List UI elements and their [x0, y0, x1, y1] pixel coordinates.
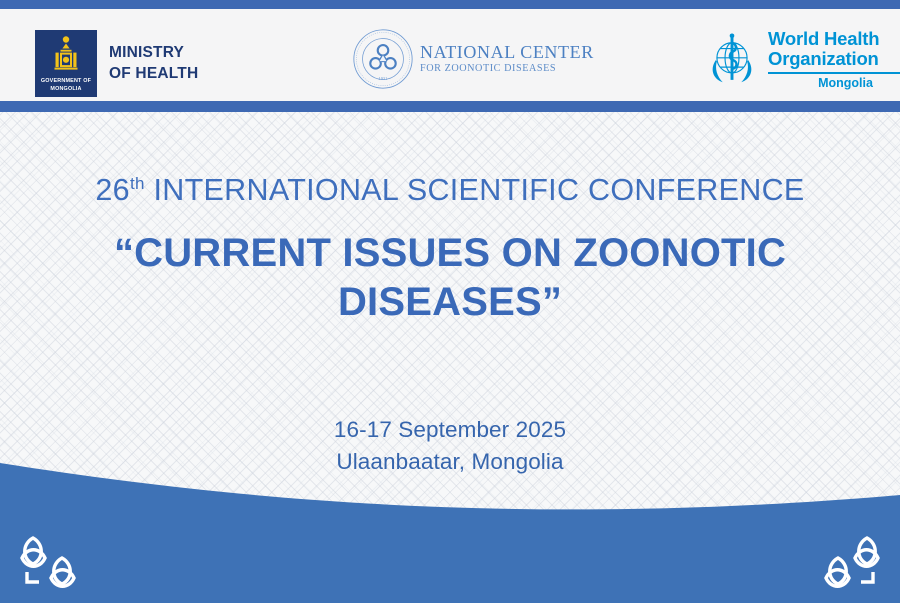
conference-ordinal-suffix: th	[130, 174, 145, 193]
national-center-name-line1: NATIONAL CENTER	[420, 43, 594, 61]
who-divider-rule	[768, 72, 900, 74]
top-accent-bar	[0, 0, 900, 9]
emblem-label-mongolia: MONGOLIA	[35, 87, 97, 92]
ministry-name-line2: OF HEALTH	[109, 64, 198, 84]
conference-heading-text: INTERNATIONAL SCIENTIFIC CONFERENCE	[145, 173, 805, 207]
national-center-name-line2: FOR ZOONOTIC DISEASES	[420, 64, 594, 74]
mongolian-knot-ornament-right	[811, 530, 887, 590]
who-name-line1: World Health	[768, 29, 900, 49]
conference-number: 26	[95, 173, 130, 207]
who-wordmark: World Health Organization Mongolia	[768, 29, 900, 90]
logo-header-band: GOVERNMENT OF MONGOLIA MINISTRY OF HEALT…	[0, 9, 900, 101]
bottom-wave-decoration	[0, 453, 900, 603]
emblem-label-government: GOVERNMENT OF	[35, 79, 97, 84]
who-country-label: Mongolia	[768, 76, 900, 90]
who-emblem-icon	[703, 30, 761, 88]
who-name-line2: Organization	[768, 49, 900, 69]
header-separator-bar	[0, 101, 900, 112]
mongolian-knot-ornament-left	[13, 530, 89, 590]
who-mongolia-logo: World Health Organization Mongolia	[703, 29, 900, 90]
national-center-zoonotic-diseases-logo: 1931 NATIONAL CENTER FOR ZOONOTIC DISEAS…	[352, 28, 594, 90]
conference-theme: “CURRENT ISSUES ON ZOONOTIC DISEASES”	[0, 229, 900, 327]
seal-year-text: 1931	[379, 76, 388, 81]
soyombo-icon	[51, 35, 81, 75]
mongolia-government-emblem: GOVERNMENT OF MONGOLIA	[35, 30, 97, 97]
ministry-of-health-name: MINISTRY OF HEALTH	[109, 43, 198, 84]
national-center-name: NATIONAL CENTER FOR ZOONOTIC DISEASES	[420, 43, 594, 74]
ministry-name-line1: MINISTRY	[109, 43, 198, 63]
event-dates: 16-17 September 2025	[0, 414, 900, 446]
conference-heading: 26th INTERNATIONAL SCIENTIFIC CONFERENCE	[0, 175, 900, 206]
ministry-of-health-logo: GOVERNMENT OF MONGOLIA MINISTRY OF HEALT…	[35, 30, 198, 97]
title-block: 26th INTERNATIONAL SCIENTIFIC CONFERENCE…	[0, 175, 900, 327]
zoonotic-seal-icon: 1931	[352, 28, 414, 90]
conference-title-slide: GOVERNMENT OF MONGOLIA MINISTRY OF HEALT…	[0, 0, 900, 603]
